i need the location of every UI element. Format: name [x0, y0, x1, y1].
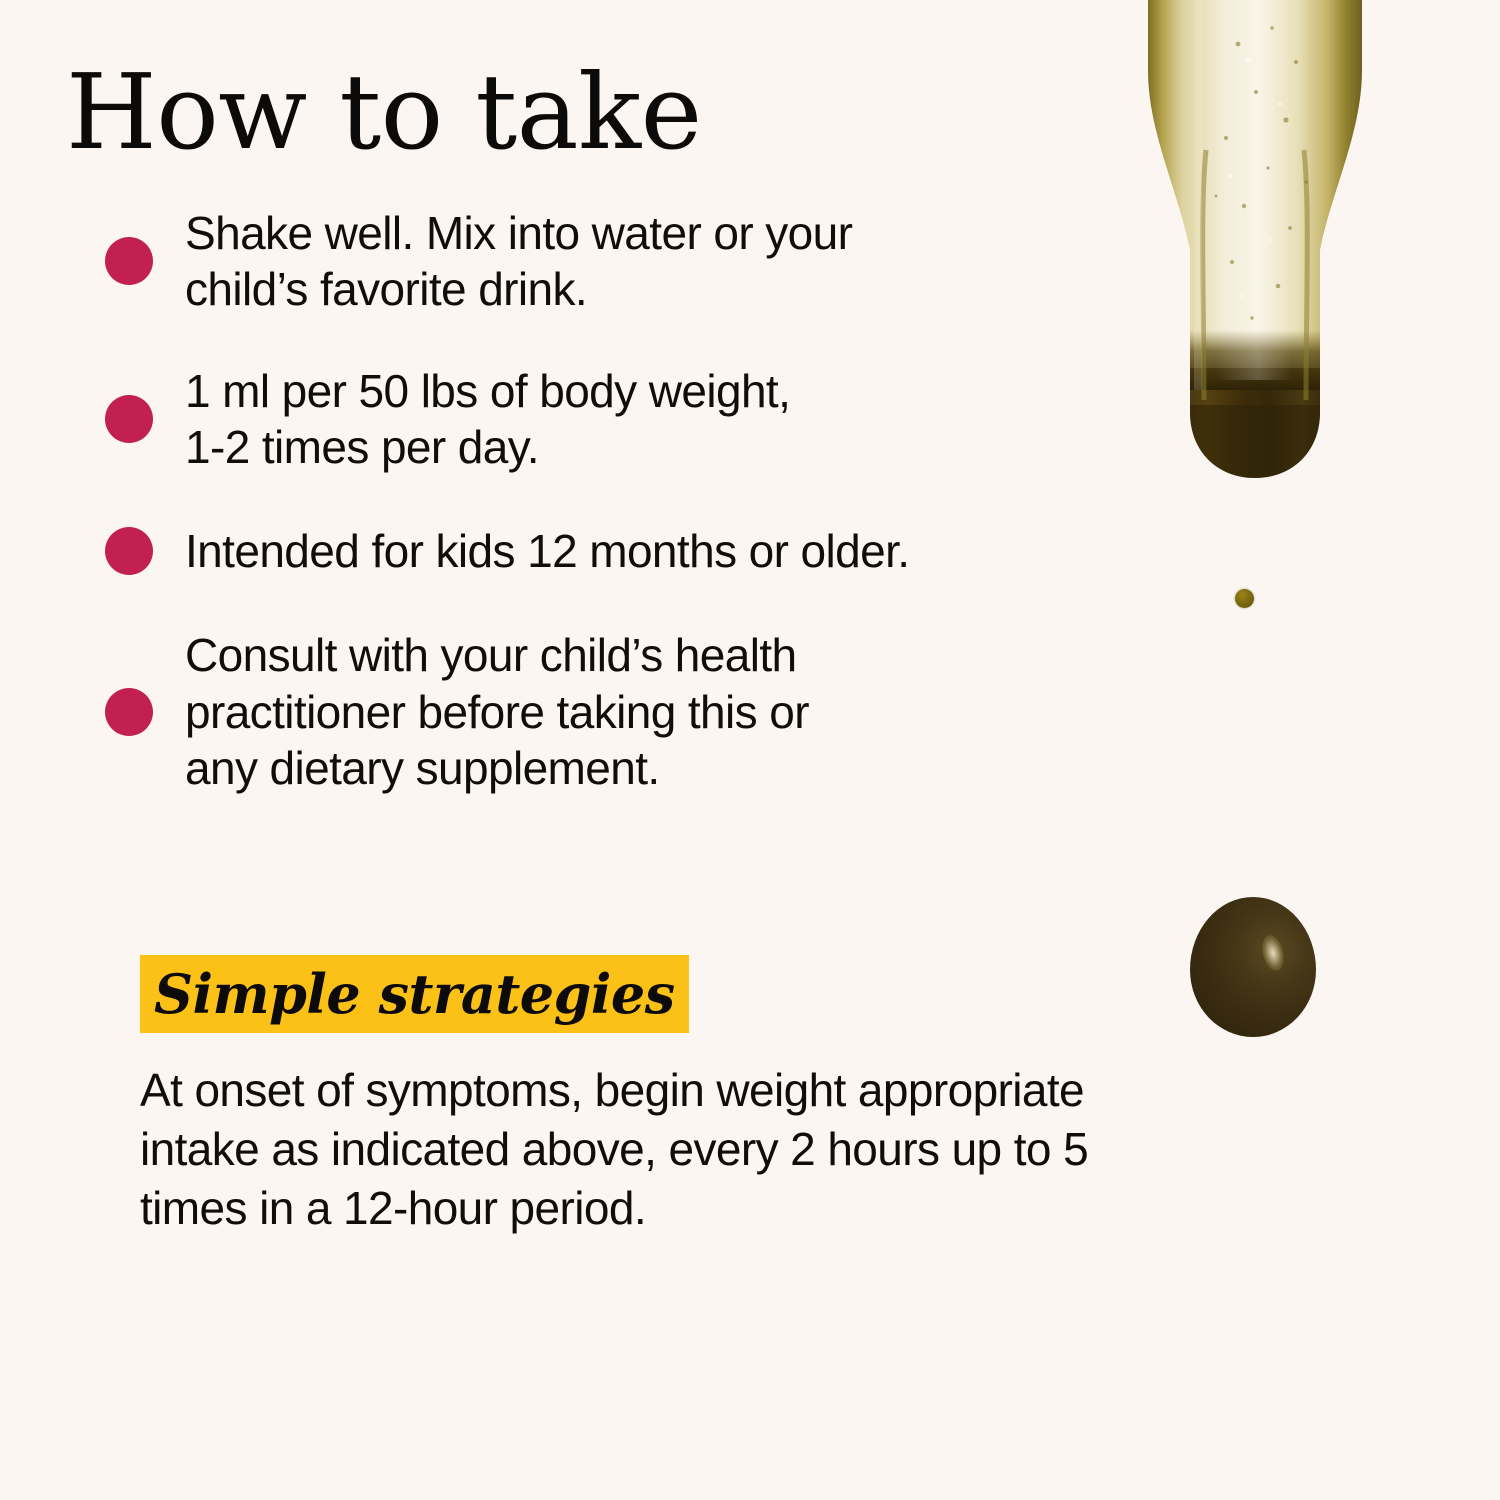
strategies-heading: Simple strategies [140, 955, 689, 1033]
list-item: 1 ml per 50 lbs of body weight, 1-2 time… [0, 363, 1100, 475]
list-item-label: 1 ml per 50 lbs of body weight, 1-2 time… [185, 363, 790, 475]
list-item: Shake well. Mix into water or your child… [0, 205, 1100, 317]
list-item: Consult with your child’s health practit… [0, 627, 1100, 795]
simple-strategies-section: Simple strategies At onset of symptoms, … [0, 955, 1330, 1238]
page-title: How to take [66, 55, 702, 169]
list-item-label: Intended for kids 12 months or older. [185, 523, 909, 579]
strategies-heading-wrapper: Simple strategies [140, 955, 689, 1033]
instructions-list: Shake well. Mix into water or your child… [0, 205, 1100, 842]
list-item-label: Shake well. Mix into water or your child… [185, 205, 852, 317]
list-item-label: Consult with your child’s health practit… [185, 627, 809, 795]
bullet-dot-icon [105, 237, 153, 285]
bullet-dot-icon [105, 527, 153, 575]
list-item: Intended for kids 12 months or older. [0, 521, 1100, 581]
bullet-dot-icon [105, 688, 153, 736]
bullet-dot-icon [105, 395, 153, 443]
dropper-icon [1120, 0, 1390, 510]
small-droplet-icon [1235, 589, 1254, 608]
strategies-body-text: At onset of symptoms, begin weight appro… [140, 1061, 1300, 1238]
